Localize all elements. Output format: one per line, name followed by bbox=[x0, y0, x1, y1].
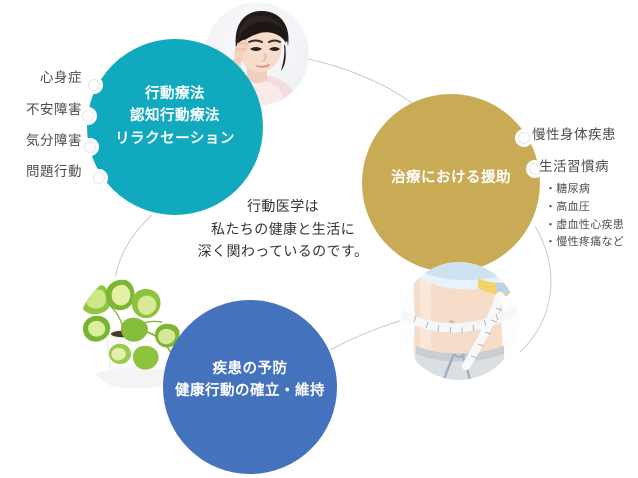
center-copy-line-1: 行動医学は bbox=[188, 196, 378, 219]
bullet-ischemic-heart-disease: ・虚血性心疾患 bbox=[545, 216, 624, 234]
blue-circle-disease-prevention bbox=[163, 300, 337, 474]
right-label-lifestyle-disease: 生活習慣病 bbox=[539, 155, 609, 175]
behavioral-medicine-diagram: 行動療法 認知行動療法 リラクセーション 治療における援助 疾患の予防 健康行動… bbox=[0, 0, 638, 478]
center-copy-line-2: 私たちの健康と生活に bbox=[188, 219, 378, 242]
waist-measure-illustration bbox=[400, 262, 518, 380]
dot-left-4 bbox=[94, 173, 105, 184]
teal-circle-behavior-therapy bbox=[87, 39, 263, 215]
dot-left-3 bbox=[85, 142, 96, 153]
bullet-diabetes: ・糖尿病 bbox=[545, 180, 624, 198]
left-label-kibun-shogai: 気分障害 bbox=[0, 129, 82, 149]
left-label-shinshinsho: 心身症 bbox=[0, 66, 82, 86]
bullet-hypertension: ・高血圧 bbox=[545, 198, 624, 216]
center-copy: 行動医学は 私たちの健康と生活に 深く関わっているのです。 bbox=[188, 196, 378, 264]
right-label-chronic-physical-disease: 慢性身体疾患 bbox=[532, 123, 616, 143]
dot-left-2 bbox=[83, 111, 94, 122]
left-label-fuan-shogai: 不安障害 bbox=[0, 98, 82, 118]
bullet-chronic-pain: ・慢性疼痛など bbox=[545, 233, 624, 251]
left-label-mondai-kodo: 問題行動 bbox=[0, 160, 82, 180]
dot-left-1 bbox=[89, 80, 100, 91]
lifestyle-disease-bullets: ・糖尿病 ・高血圧 ・虚血性心疾患 ・慢性疼痛など bbox=[545, 180, 624, 251]
dot-right-1 bbox=[519, 133, 530, 144]
center-copy-line-3: 深く関わっているのです。 bbox=[188, 241, 378, 264]
gold-circle-treatment-support bbox=[362, 94, 540, 272]
waist-measure-photo bbox=[400, 262, 518, 380]
